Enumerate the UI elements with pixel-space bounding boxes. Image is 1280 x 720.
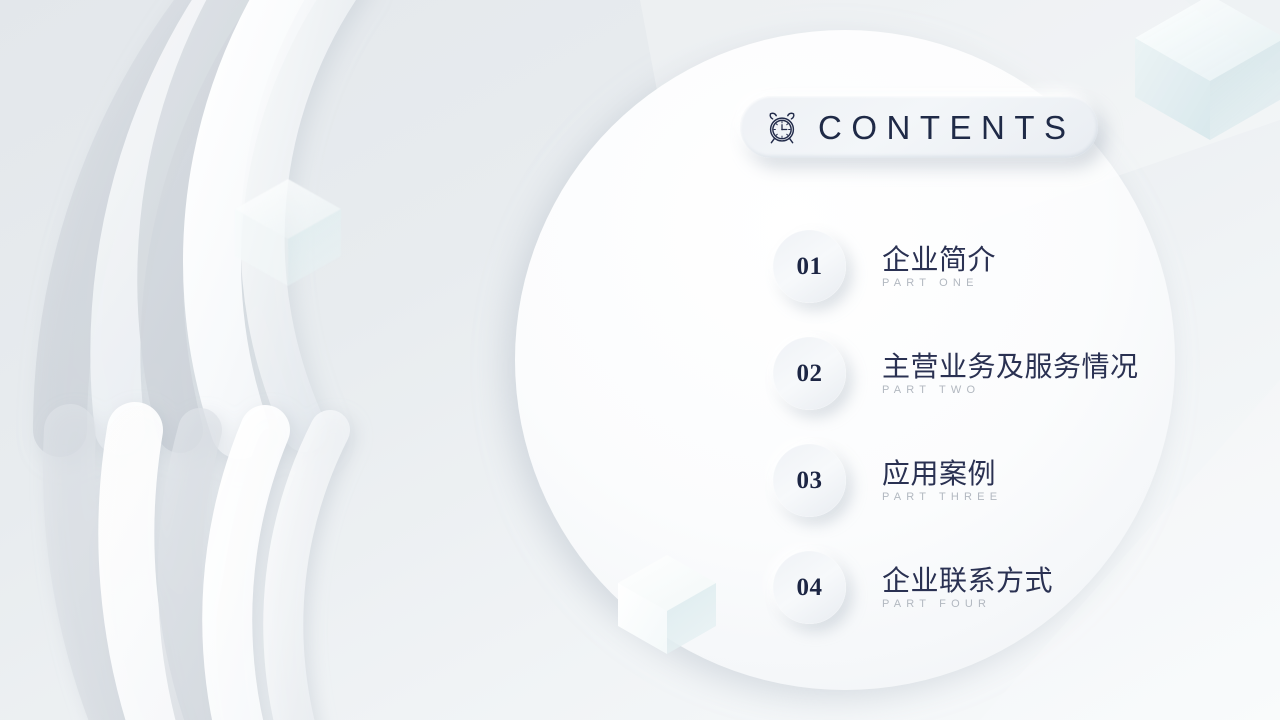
cube-bottom-center-icon [612, 552, 722, 657]
contents-badge-02[interactable]: 02 [773, 337, 846, 410]
contents-subtitle-03: PART THREE [882, 491, 1002, 503]
contents-subtitle-04: PART FOUR [882, 598, 1053, 610]
contents-badge-04[interactable]: 04 [773, 551, 846, 624]
contents-item-02[interactable]: 02 主营业务及服务情况 PART TWO [773, 337, 1203, 410]
contents-number-04: 04 [797, 575, 823, 600]
contents-item-03[interactable]: 03 应用案例 PART THREE [773, 444, 1203, 517]
contents-title-01: 企业简介 [882, 244, 996, 275]
contents-text-04: 企业联系方式 PART FOUR [882, 565, 1053, 609]
contents-number-02: 02 [797, 361, 823, 386]
contents-subtitle-01: PART ONE [882, 277, 996, 289]
contents-item-04[interactable]: 04 企业联系方式 PART FOUR [773, 551, 1203, 624]
cube-left-small-icon [228, 175, 348, 290]
contents-badge-03[interactable]: 03 [773, 444, 846, 517]
contents-number-03: 03 [797, 468, 823, 493]
contents-item-01[interactable]: 01 企业简介 PART ONE [773, 230, 1203, 303]
contents-text-03: 应用案例 PART THREE [882, 458, 1002, 502]
contents-subtitle-02: PART TWO [882, 384, 1139, 396]
slide-canvas: CONTENTS 01 企业简介 PART ONE 02 主营业务及服务情况 P… [0, 0, 1280, 720]
page-title: CONTENTS [818, 111, 1076, 144]
contents-title-02: 主营业务及服务情况 [882, 351, 1139, 382]
cube-top-right-icon [1125, 0, 1280, 140]
contents-header-pill: CONTENTS [740, 96, 1098, 158]
contents-badge-01[interactable]: 01 [773, 230, 846, 303]
contents-title-04: 企业联系方式 [882, 565, 1053, 596]
contents-list: 01 企业简介 PART ONE 02 主营业务及服务情况 PART TWO 0… [773, 230, 1203, 624]
contents-text-01: 企业简介 PART ONE [882, 244, 996, 288]
contents-title-03: 应用案例 [882, 458, 1002, 489]
contents-number-01: 01 [797, 254, 823, 279]
alarm-clock-icon [764, 110, 800, 146]
contents-text-02: 主营业务及服务情况 PART TWO [882, 351, 1139, 395]
